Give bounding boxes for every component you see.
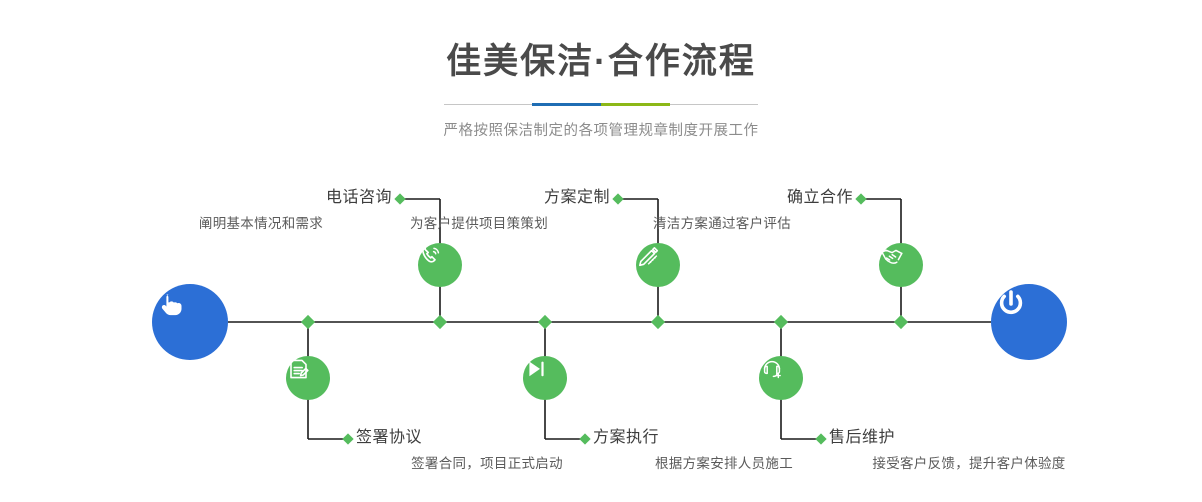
flowchart-page: 佳美保洁·合作流程 严格按照保洁制定的各项管理规章制度开展工作	[0, 0, 1202, 502]
step-title: 售后维护	[829, 430, 1109, 446]
spine-diamond-6	[894, 315, 908, 329]
step-label-below-2: 方案执行 根据方案安排人员施工	[593, 430, 855, 471]
step-title: 签署协议	[356, 430, 618, 446]
step-label-below-1: 签署协议 签署合同，项目正式启动	[356, 430, 618, 471]
step-subtitle: 接受客户反馈，提升客户体验度	[829, 457, 1109, 471]
step-label-below-3: 售后维护 接受客户反馈，提升客户体验度	[829, 430, 1109, 471]
spine-diamond-2	[433, 315, 447, 329]
step-node-agreement[interactable]	[286, 356, 330, 400]
step-node-aftersales[interactable]	[759, 356, 803, 400]
timeline-connectors	[0, 0, 1202, 502]
spine-diamond-4	[651, 315, 665, 329]
step-label-above-2: 方案定制 为客户提供项目策策划	[348, 190, 610, 231]
step-title: 方案执行	[593, 430, 855, 446]
step-label-above-3: 确立合作 清洁方案通过客户评估	[591, 190, 853, 231]
timeline-end-node[interactable]	[991, 284, 1067, 360]
step-subtitle: 根据方案安排人员施工	[593, 457, 855, 471]
step-node-phone[interactable]	[418, 243, 462, 287]
step-title: 方案定制	[348, 190, 610, 206]
spine-diamond-1	[301, 315, 315, 329]
step-subtitle: 为客户提供项目策策划	[348, 217, 610, 231]
process-timeline-diagram: 电话咨询 阐明基本情况和需求 方案定制 为客户提供项目策策划 确立合作 清洁方案…	[0, 0, 1202, 502]
timeline-start-node[interactable]	[152, 284, 228, 360]
step-node-execution[interactable]	[523, 356, 567, 400]
label-diamond-up-3	[855, 193, 866, 204]
step-subtitle: 清洁方案通过客户评估	[591, 217, 853, 231]
step-title: 确立合作	[591, 190, 853, 206]
step-node-plan[interactable]	[636, 243, 680, 287]
spine-diamond-5	[774, 315, 788, 329]
spine-diamond-3	[538, 315, 552, 329]
label-diamond-down-1	[342, 433, 353, 444]
step-subtitle: 签署合同，项目正式启动	[356, 457, 618, 471]
step-node-cooperation[interactable]	[879, 243, 923, 287]
